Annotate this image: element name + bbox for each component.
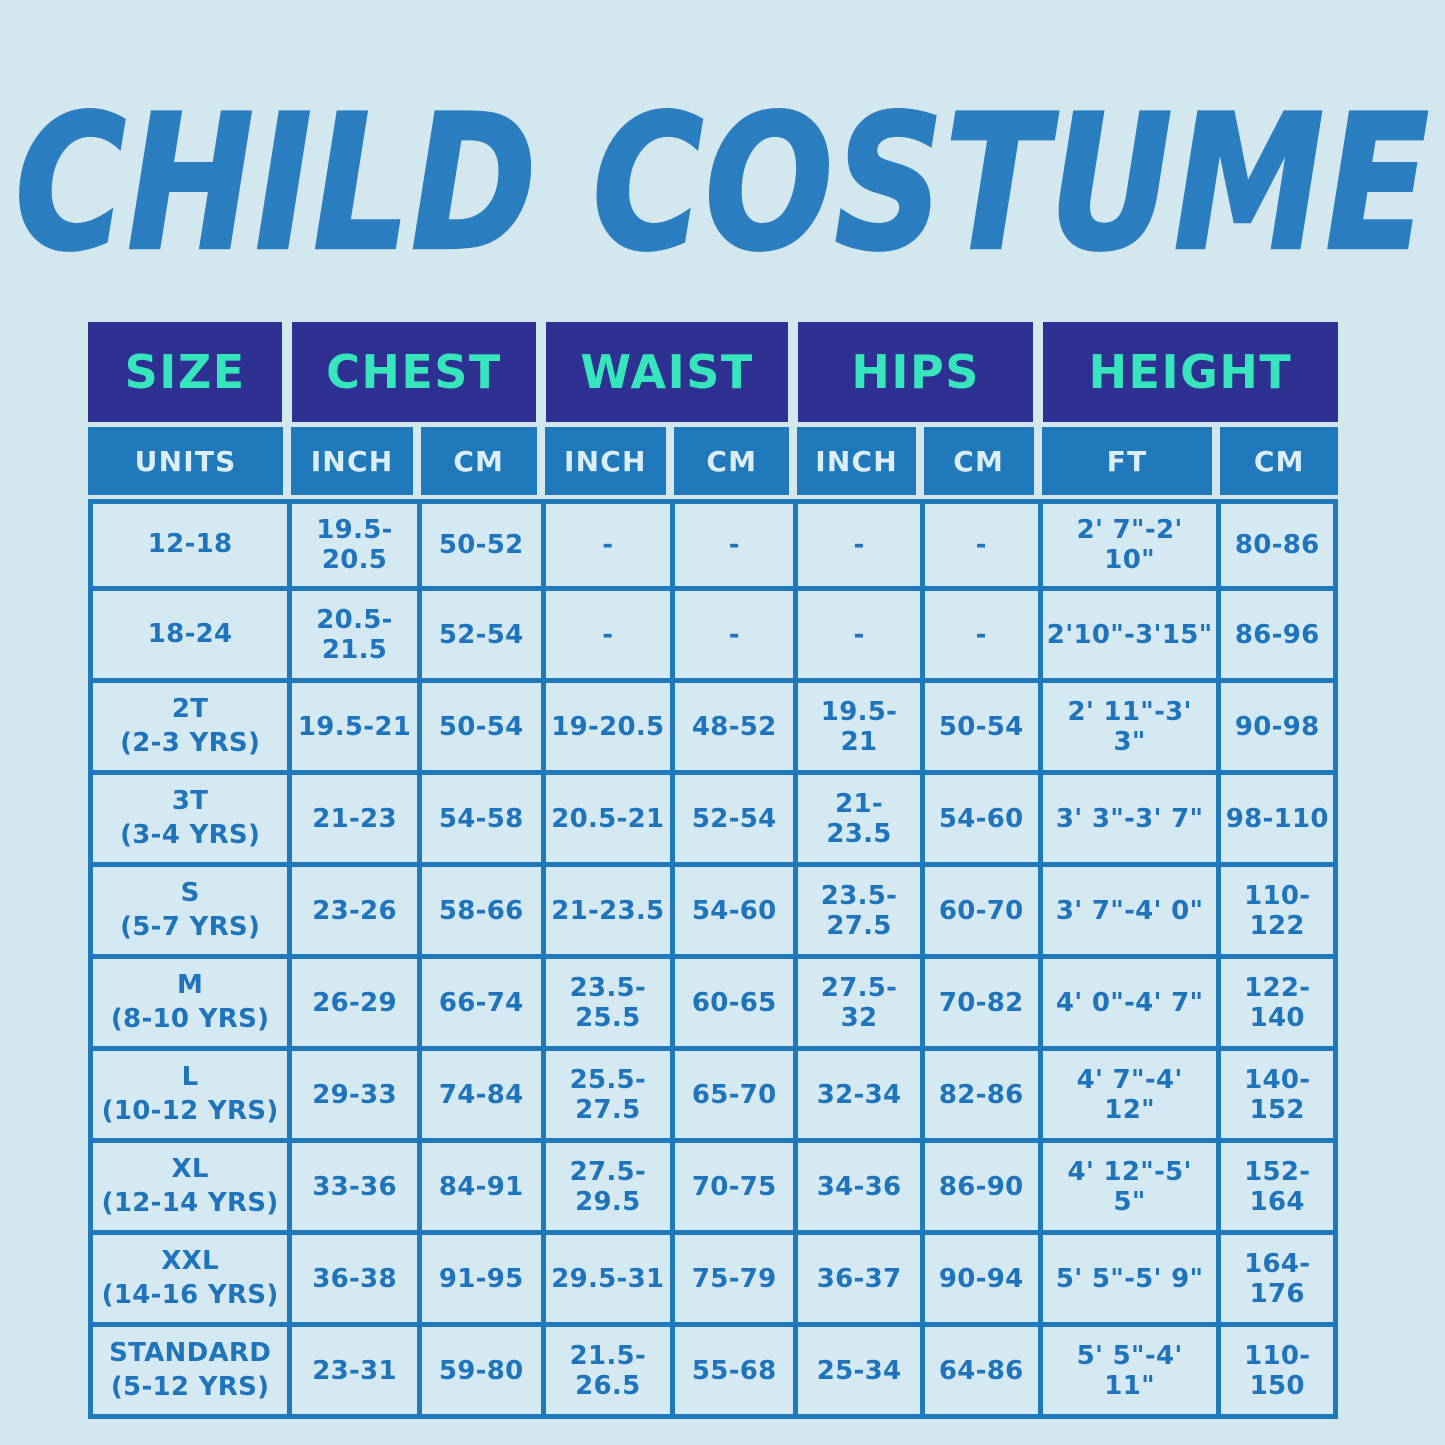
table-row: XL(12-14 YRS)33-3684-9127.5-29.570-7534-… <box>88 1143 1338 1235</box>
cell-chest-cm: 52-54 <box>417 591 541 683</box>
size-chart-page: CHILD COSTUME SIZE CHEST WAIST HIPS HEIG… <box>0 0 1445 1445</box>
cell-size: 18-24 <box>88 591 287 683</box>
cell-size: 3T(3-4 YRS) <box>88 775 287 867</box>
group-header-size: SIZE <box>88 322 287 427</box>
cell-height-cm: 80-86 <box>1216 499 1338 591</box>
cell-chest-cm: 74-84 <box>417 1051 541 1143</box>
cell-size: M(8-10 YRS) <box>88 959 287 1051</box>
cell-height-cm: 90-98 <box>1216 683 1338 775</box>
cell-chest-inch: 29-33 <box>287 1051 417 1143</box>
unit-header-waist-inch: INCH <box>541 427 670 499</box>
cell-hips-inch: 19.5-21 <box>793 683 919 775</box>
cell-waist-cm: 70-75 <box>670 1143 793 1235</box>
size-label-sub: (10-12 YRS) <box>97 1095 283 1128</box>
cell-waist-inch: 20.5-21 <box>541 775 670 867</box>
unit-header-units: UNITS <box>88 427 287 499</box>
cell-height-ft: 3' 7"-4' 0" <box>1038 867 1217 959</box>
table-row: 12-1819.5-20.550-52----2' 7"-2' 10"80-86 <box>88 499 1338 591</box>
size-label-main: M <box>97 969 283 1002</box>
cell-hips-cm: 90-94 <box>920 1235 1038 1327</box>
unit-header-height-cm: CM <box>1216 427 1338 499</box>
size-label-main: XL <box>97 1153 283 1186</box>
cell-waist-cm: - <box>670 499 793 591</box>
table-row: S(5-7 YRS)23-2658-6621-23.554-6023.5-27.… <box>88 867 1338 959</box>
cell-height-cm: 98-110 <box>1216 775 1338 867</box>
cell-chest-cm: 58-66 <box>417 867 541 959</box>
cell-chest-inch: 26-29 <box>287 959 417 1051</box>
cell-hips-cm: 70-82 <box>920 959 1038 1051</box>
cell-waist-inch: 29.5-31 <box>541 1235 670 1327</box>
cell-size: S(5-7 YRS) <box>88 867 287 959</box>
unit-header-row: UNITS INCH CM INCH CM INCH CM FT CM <box>88 427 1338 499</box>
cell-chest-inch: 19.5-20.5 <box>287 499 417 591</box>
group-header-row: SIZE CHEST WAIST HIPS HEIGHT <box>88 322 1338 427</box>
table-body: 12-1819.5-20.550-52----2' 7"-2' 10"80-86… <box>88 499 1338 1419</box>
table-row: L(10-12 YRS)29-3374-8425.5-27.565-7032-3… <box>88 1051 1338 1143</box>
cell-waist-inch: 21.5-26.5 <box>541 1327 670 1419</box>
size-label-main: S <box>97 877 283 910</box>
unit-header-waist-cm: CM <box>670 427 793 499</box>
size-label-sub: (5-7 YRS) <box>97 911 283 944</box>
cell-waist-cm: 52-54 <box>670 775 793 867</box>
cell-hips-cm: 82-86 <box>920 1051 1038 1143</box>
cell-waist-inch: 23.5-25.5 <box>541 959 670 1051</box>
cell-height-cm: 152-164 <box>1216 1143 1338 1235</box>
table-row: 2T(2-3 YRS)19.5-2150-5419-20.548-5219.5-… <box>88 683 1338 775</box>
cell-hips-cm: 60-70 <box>920 867 1038 959</box>
cell-height-ft: 4' 7"-4' 12" <box>1038 1051 1217 1143</box>
size-label-sub: (8-10 YRS) <box>97 1003 283 1036</box>
cell-waist-cm: 65-70 <box>670 1051 793 1143</box>
cell-hips-cm: 54-60 <box>920 775 1038 867</box>
cell-chest-cm: 91-95 <box>417 1235 541 1327</box>
cell-hips-inch: 32-34 <box>793 1051 919 1143</box>
size-label-sub: (14-16 YRS) <box>97 1279 283 1312</box>
cell-chest-cm: 50-52 <box>417 499 541 591</box>
table-row: STANDARD(5-12 YRS)23-3159-8021.5-26.555-… <box>88 1327 1338 1419</box>
cell-chest-cm: 54-58 <box>417 775 541 867</box>
cell-hips-inch: - <box>793 499 919 591</box>
cell-height-ft: 2'10"-3'15" <box>1038 591 1217 683</box>
cell-waist-inch: 19-20.5 <box>541 683 670 775</box>
table-head: SIZE CHEST WAIST HIPS HEIGHT UNITS INCH … <box>88 322 1338 499</box>
cell-waist-inch: - <box>541 591 670 683</box>
cell-height-ft: 5' 5"-5' 9" <box>1038 1235 1217 1327</box>
cell-hips-cm: 86-90 <box>920 1143 1038 1235</box>
cell-hips-cm: 50-54 <box>920 683 1038 775</box>
cell-chest-inch: 20.5-21.5 <box>287 591 417 683</box>
cell-height-ft: 2' 7"-2' 10" <box>1038 499 1217 591</box>
cell-size: XL(12-14 YRS) <box>88 1143 287 1235</box>
cell-height-ft: 3' 3"-3' 7" <box>1038 775 1217 867</box>
cell-hips-inch: 21-23.5 <box>793 775 919 867</box>
cell-size: 12-18 <box>88 499 287 591</box>
cell-hips-inch: 25-34 <box>793 1327 919 1419</box>
size-label-sub: (3-4 YRS) <box>97 819 283 852</box>
size-label-main: XXL <box>97 1245 283 1278</box>
size-label-main: STANDARD <box>97 1337 283 1370</box>
table-row: 3T(3-4 YRS)21-2354-5820.5-2152-5421-23.5… <box>88 775 1338 867</box>
cell-chest-inch: 21-23 <box>287 775 417 867</box>
cell-hips-inch: 34-36 <box>793 1143 919 1235</box>
cell-waist-cm: - <box>670 591 793 683</box>
size-label-main: L <box>97 1061 283 1094</box>
page-title: CHILD COSTUME <box>15 91 1430 276</box>
cell-hips-inch: - <box>793 591 919 683</box>
unit-header-height-ft: FT <box>1038 427 1217 499</box>
unit-header-chest-cm: CM <box>417 427 541 499</box>
cell-height-cm: 110-150 <box>1216 1327 1338 1419</box>
cell-size: XXL(14-16 YRS) <box>88 1235 287 1327</box>
cell-waist-inch: 25.5-27.5 <box>541 1051 670 1143</box>
cell-hips-inch: 23.5-27.5 <box>793 867 919 959</box>
cell-waist-inch: 27.5-29.5 <box>541 1143 670 1235</box>
group-header-chest: CHEST <box>287 322 540 427</box>
cell-height-cm: 110-122 <box>1216 867 1338 959</box>
cell-hips-inch: 36-37 <box>793 1235 919 1327</box>
cell-size: STANDARD(5-12 YRS) <box>88 1327 287 1419</box>
cell-height-ft: 5' 5"-4' 11" <box>1038 1327 1217 1419</box>
cell-chest-inch: 23-26 <box>287 867 417 959</box>
cell-chest-inch: 23-31 <box>287 1327 417 1419</box>
table-row: XXL(14-16 YRS)36-3891-9529.5-3175-7936-3… <box>88 1235 1338 1327</box>
page-title-container: CHILD COSTUME <box>0 76 1445 291</box>
table-row: M(8-10 YRS)26-2966-7423.5-25.560-6527.5-… <box>88 959 1338 1051</box>
cell-height-ft: 4' 0"-4' 7" <box>1038 959 1217 1051</box>
cell-chest-cm: 84-91 <box>417 1143 541 1235</box>
cell-chest-inch: 33-36 <box>287 1143 417 1235</box>
size-chart-table: SIZE CHEST WAIST HIPS HEIGHT UNITS INCH … <box>88 322 1338 1419</box>
size-label-main: 18-24 <box>97 618 283 651</box>
cell-waist-cm: 75-79 <box>670 1235 793 1327</box>
cell-waist-cm: 48-52 <box>670 683 793 775</box>
cell-hips-cm: - <box>920 499 1038 591</box>
size-label-main: 2T <box>97 693 283 726</box>
size-label-sub: (5-12 YRS) <box>97 1371 283 1404</box>
cell-hips-cm: - <box>920 591 1038 683</box>
cell-hips-cm: 64-86 <box>920 1327 1038 1419</box>
table-row: 18-2420.5-21.552-54----2'10"-3'15"86-96 <box>88 591 1338 683</box>
cell-chest-cm: 66-74 <box>417 959 541 1051</box>
size-label-sub: (2-3 YRS) <box>97 727 283 760</box>
cell-size: L(10-12 YRS) <box>88 1051 287 1143</box>
size-label-main: 12-18 <box>97 528 283 561</box>
unit-header-chest-inch: INCH <box>287 427 417 499</box>
cell-height-cm: 86-96 <box>1216 591 1338 683</box>
cell-height-cm: 122-140 <box>1216 959 1338 1051</box>
cell-waist-cm: 55-68 <box>670 1327 793 1419</box>
cell-height-ft: 2' 11"-3' 3" <box>1038 683 1217 775</box>
cell-waist-cm: 54-60 <box>670 867 793 959</box>
cell-height-cm: 140-152 <box>1216 1051 1338 1143</box>
cell-size: 2T(2-3 YRS) <box>88 683 287 775</box>
cell-hips-inch: 27.5-32 <box>793 959 919 1051</box>
cell-waist-inch: 21-23.5 <box>541 867 670 959</box>
group-header-height: HEIGHT <box>1038 322 1338 427</box>
cell-waist-cm: 60-65 <box>670 959 793 1051</box>
cell-waist-inch: - <box>541 499 670 591</box>
size-label-main: 3T <box>97 785 283 818</box>
size-label-sub: (12-14 YRS) <box>97 1187 283 1220</box>
group-header-hips: HIPS <box>793 322 1037 427</box>
cell-chest-inch: 19.5-21 <box>287 683 417 775</box>
cell-height-ft: 4' 12"-5' 5" <box>1038 1143 1217 1235</box>
unit-header-hips-cm: CM <box>920 427 1038 499</box>
cell-chest-inch: 36-38 <box>287 1235 417 1327</box>
cell-height-cm: 164-176 <box>1216 1235 1338 1327</box>
unit-header-hips-inch: INCH <box>793 427 919 499</box>
group-header-waist: WAIST <box>541 322 794 427</box>
cell-chest-cm: 59-80 <box>417 1327 541 1419</box>
cell-chest-cm: 50-54 <box>417 683 541 775</box>
